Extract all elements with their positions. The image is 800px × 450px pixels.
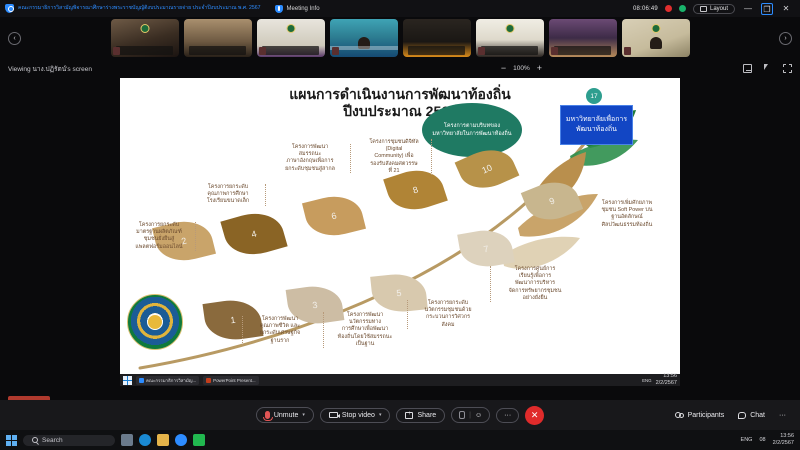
- unmute-button[interactable]: Unmute ▾: [256, 407, 314, 423]
- battery-indicator[interactable]: 08: [759, 437, 765, 443]
- share-view-bar: Viewing นาง.ปฏิรัตน์'s screen − 100% +: [0, 59, 800, 78]
- close-button[interactable]: ✕: [780, 3, 792, 14]
- participant-thumb-5[interactable]: [403, 19, 471, 57]
- zoom-out-button[interactable]: −: [501, 64, 506, 73]
- chat-label: Chat: [750, 412, 765, 419]
- taskview-icon[interactable]: [121, 434, 133, 446]
- share-label: Share: [417, 412, 436, 419]
- leaf-6: 6: [302, 190, 366, 242]
- edge-icon[interactable]: [139, 434, 151, 446]
- info-shield-icon: [275, 5, 283, 13]
- participant-thumb-8[interactable]: [622, 19, 690, 57]
- zoom-level-control: − 100% +: [501, 64, 542, 73]
- label-project-4: โครงการชุมชนดิจิทัล (Digital Community) …: [360, 139, 432, 175]
- stop-video-label: Stop video: [342, 412, 375, 419]
- unmute-chevron-down-icon[interactable]: ▾: [302, 412, 305, 418]
- taskbar-app-1[interactable]: คณะกรรมาธิการวิสามัญ...: [136, 376, 199, 385]
- taskbar-time: 13:56: [780, 433, 794, 439]
- zoom-app-icon[interactable]: [175, 434, 187, 446]
- shared-taskbar-time: 13:56: [663, 373, 677, 379]
- meeting-info-label: Meeting Info: [287, 6, 320, 12]
- microphone-icon: [265, 411, 270, 419]
- pointer-icon[interactable]: [763, 64, 772, 73]
- leaf-9: 9: [521, 174, 583, 229]
- line-icon[interactable]: [193, 434, 205, 446]
- taskbar-app-2[interactable]: PowerPoint Present...: [203, 376, 258, 385]
- windows-logo-icon[interactable]: [6, 435, 17, 446]
- shared-screen-content: แผนการดำเนินงานการพัฒนาท้องถิ่น ปีงบประม…: [120, 78, 680, 374]
- thumbnails-prev-button[interactable]: ‹: [8, 32, 21, 45]
- whiteboard-icon[interactable]: [459, 411, 465, 419]
- layout-label: Layout: [710, 6, 728, 12]
- toolbar-overflow-button[interactable]: ···: [779, 412, 786, 419]
- stop-video-button[interactable]: Stop video ▾: [320, 408, 391, 423]
- label-project-9: โครงการพัฒนา คุณภาพชีวิต และ ยกระดับเศรษ…: [242, 316, 314, 345]
- zoom-controls-toolbar: Unmute ▾ Stop video ▾ Share | ☺ ···: [0, 400, 800, 430]
- thumbnails-next-button[interactable]: ›: [779, 32, 792, 45]
- participants-button[interactable]: Participants: [675, 412, 725, 419]
- shared-taskbar-date: 2/2/2567: [656, 380, 677, 386]
- maximize-button[interactable]: ❐: [761, 3, 773, 15]
- video-chevron-down-icon[interactable]: ▾: [379, 412, 382, 418]
- zoom-meeting-window: คณะกรรมาธิการวิสามัญพิจารณาศึกษาร่างพระร…: [0, 0, 800, 450]
- end-meeting-button[interactable]: ✕: [525, 406, 544, 425]
- participant-thumb-1[interactable]: [111, 19, 179, 57]
- shared-windows-taskbar: คณะกรรมาธิการวิสามัญ... PowerPoint Prese…: [120, 374, 680, 386]
- label-project-5: โครงการเพิ่มศักยภาพ ชุมชน Soft Power บน …: [578, 200, 676, 229]
- reactions-smiley-icon[interactable]: ☺: [475, 412, 482, 419]
- leaf-7: 7: [457, 226, 515, 271]
- windows-start-icon[interactable]: [123, 376, 132, 385]
- zoom-level-value: 100%: [513, 65, 530, 72]
- participant-thumb-4[interactable]: [330, 19, 398, 57]
- label-project-8: โครงการพัฒนา นวัตกรรมทาง การศึกษาเพื่อพั…: [323, 312, 403, 348]
- layout-icon: [700, 6, 707, 12]
- network-status-icon[interactable]: [679, 5, 686, 12]
- shared-taskbar-lang[interactable]: ENG: [642, 378, 652, 383]
- fullscreen-icon[interactable]: [783, 64, 792, 73]
- project-count-badge: 17: [586, 88, 602, 104]
- window-titlebar: คณะกรรมาธิการวิสามัญพิจารณาศึกษาร่างพระร…: [0, 0, 800, 17]
- zoom-in-button[interactable]: +: [537, 64, 542, 73]
- recording-indicator-icon[interactable]: [665, 5, 672, 12]
- label-project-6: โครงการศูนย์การ เรียนรู้เพื่อการ พัฒนากา…: [490, 266, 576, 302]
- label-project-1: โครงการยกระดับ มาตรฐานผลิตภัณฑ์ ชุมชนยั่…: [126, 222, 196, 251]
- slide-title-line1: แผนการดำเนินงานการพัฒนาท้องถิ่น: [289, 86, 510, 102]
- share-button[interactable]: Share: [396, 408, 445, 423]
- windows-taskbar: Search ENG 08 13:56 2/2/2567: [0, 430, 800, 450]
- taskbar-app-1-label: คณะกรรมาธิการวิสามัญ...: [146, 377, 196, 384]
- label-project-7: โครงการยกระดับ นวัตกรรมชุมชนด้วย กระบวนก…: [407, 300, 485, 329]
- participant-thumb-2[interactable]: [184, 19, 252, 57]
- zoom-shield-icon: [5, 4, 14, 13]
- participant-thumb-7[interactable]: [549, 19, 617, 57]
- meeting-title: คณะกรรมาธิการวิสามัญพิจารณาศึกษาร่างพระร…: [18, 0, 261, 17]
- leaf-4: 4: [220, 206, 287, 262]
- blue-university-box: มหาวิทยาลัยเพื่อการพัฒนาท้องถิ่น: [560, 105, 633, 145]
- share-screen-icon: [405, 412, 413, 419]
- taskbar-clock[interactable]: 13:56 2/2/2567: [773, 433, 794, 447]
- explorer-icon[interactable]: [157, 434, 169, 446]
- chat-icon: [738, 412, 746, 419]
- minimize-button[interactable]: —: [742, 3, 754, 14]
- layout-button[interactable]: Layout: [693, 4, 735, 14]
- taskbar-app-2-label: PowerPoint Present...: [213, 378, 255, 383]
- label-project-3: โครงการพัฒนา สมรรถนะ ภาษาอังกฤษเพื่อการ …: [273, 144, 351, 173]
- participants-icon: [675, 412, 684, 419]
- camera-icon: [329, 412, 338, 418]
- search-placeholder: Search: [42, 437, 63, 444]
- university-logo-icon: [127, 294, 183, 350]
- participant-thumbnail-strip: ‹ ›: [0, 17, 800, 59]
- label-project-2: โครงการยกระดับ คุณภาพการศึกษา โรงเรียนขน…: [194, 184, 266, 206]
- unmute-label: Unmute: [274, 412, 299, 419]
- more-options-button[interactable]: ···: [496, 408, 519, 423]
- search-input[interactable]: Search: [23, 435, 115, 446]
- chat-button[interactable]: Chat: [738, 412, 765, 419]
- meeting-info-button[interactable]: Meeting Info: [275, 5, 320, 13]
- zoom-window: คณะกรรมาธิการวิสามัญพิจารณาศึกษาร่างพระร…: [0, 0, 800, 400]
- taskbar-date: 2/2/2567: [773, 440, 794, 446]
- taskbar-lang[interactable]: ENG: [741, 437, 753, 443]
- meeting-timer: 08:06:49: [633, 6, 658, 12]
- viewing-screen-label: Viewing นาง.ปฏิรัตน์'s screen: [8, 64, 92, 74]
- search-icon: [32, 437, 38, 443]
- participant-thumb-3[interactable]: [257, 19, 325, 57]
- participants-label: Participants: [688, 412, 725, 419]
- powerpoint-slide: แผนการดำเนินงานการพัฒนาท้องถิ่น ปีงบประม…: [120, 78, 680, 374]
- participant-thumb-6[interactable]: [476, 19, 544, 57]
- annotate-icon[interactable]: [743, 64, 752, 73]
- leaf-5-number: 5: [396, 288, 402, 298]
- annotate-react-group[interactable]: | ☺: [451, 407, 490, 423]
